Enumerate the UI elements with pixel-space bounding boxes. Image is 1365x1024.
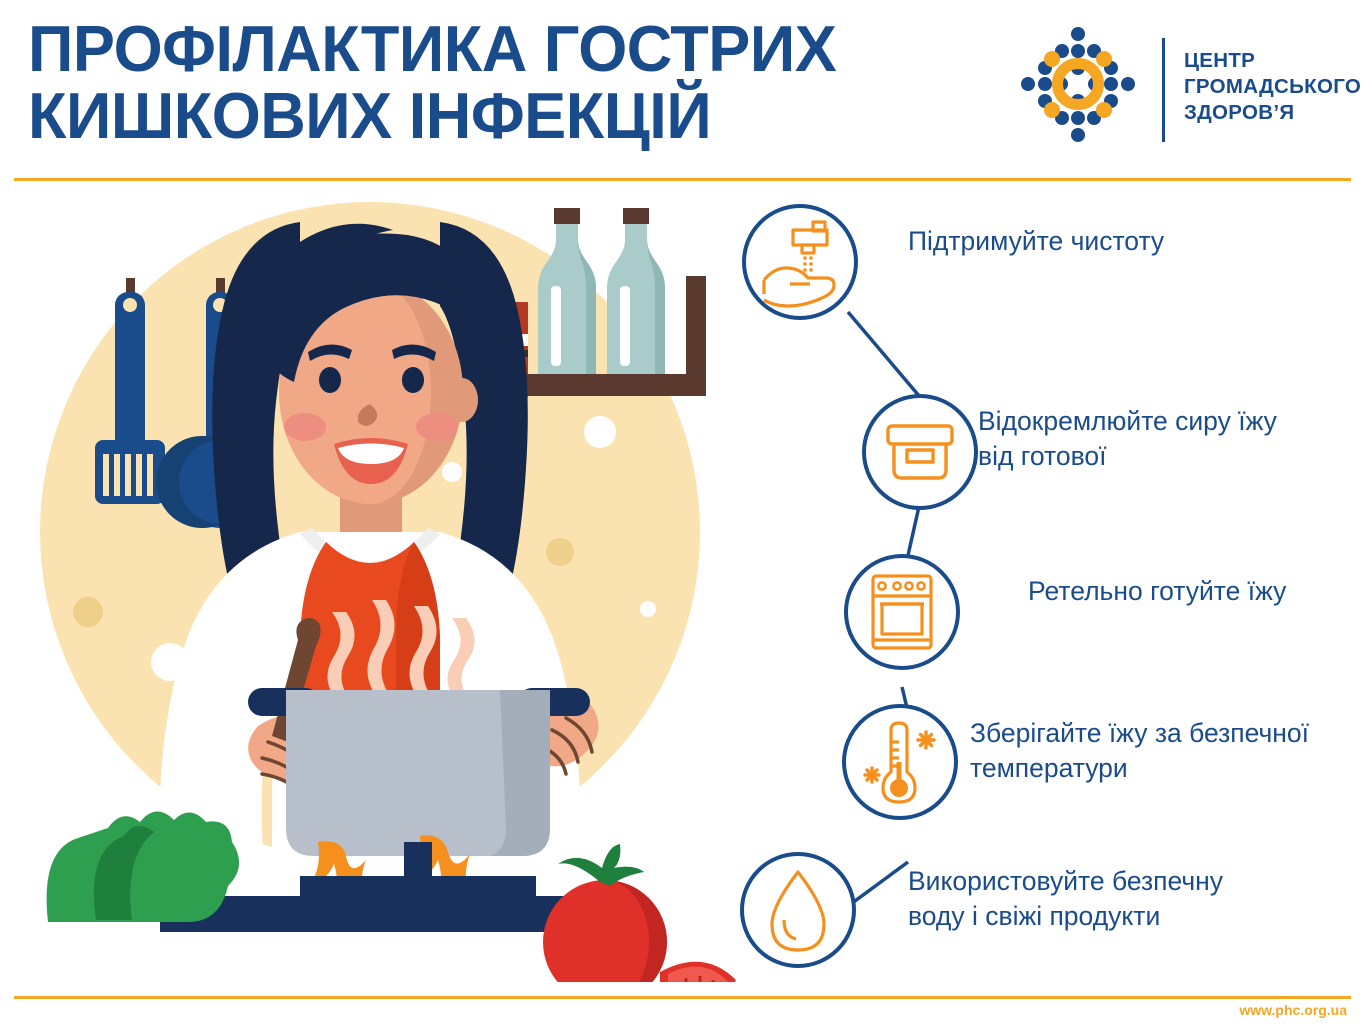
checklist-label-2-line-2: від готової: [978, 439, 1277, 474]
glass-bottle-right: [607, 208, 665, 374]
page-title-line-1: ПРОФІЛАКТИКА ГОСТРИХ: [28, 16, 959, 83]
footer-website-url[interactable]: www.phc.org.ua: [1239, 1002, 1347, 1018]
food-container-icon: [860, 392, 980, 512]
logo-text-line-2: ГРОМАДСЬКОГО: [1184, 74, 1361, 100]
checklist-label-4-line-2: температури: [970, 751, 1309, 786]
checklist-label-5-line-1: Використовуйте безпечну: [908, 864, 1223, 899]
checklist-label-3: Ретельно готуйте їжу: [1028, 574, 1286, 609]
page-title-line-2: КИШКОВИХ ІНФЕКЦІЙ: [28, 83, 959, 150]
checklist-label-1: Підтримуйте чистоту: [908, 224, 1164, 259]
salad-bowl: [36, 811, 239, 982]
tomato-slice: [660, 962, 736, 982]
kitchen-illustration: [0, 182, 740, 982]
prevention-checklist: Підтримуйте чистоту Відокремлюйте сиру ї…: [730, 182, 1365, 992]
glass-bottle-left: [538, 208, 596, 374]
checklist-item-5[interactable]: [738, 850, 858, 975]
checklist-label-5-line-2: воду і свіжі продукти: [908, 899, 1223, 934]
checklist-item-4[interactable]: [840, 702, 960, 827]
organization-logo: ЦЕНТР ГРОМАДСЬКОГО ЗДОРОВ’Я: [1012, 26, 1352, 152]
stove-oven-icon: [842, 552, 962, 672]
checklist-label-1-line-1: Підтримуйте чистоту: [908, 224, 1164, 259]
logo-text-line-3: ЗДОРОВ’Я: [1184, 100, 1361, 126]
page-header: ПРОФІЛАКТИКА ГОСТРИХ КИШКОВИХ ІНФЕКЦІЙ: [0, 0, 1365, 180]
footer-divider-rule: [14, 996, 1351, 999]
checklist-label-4: Зберігайте їжу за безпечної температури: [970, 716, 1309, 786]
diamond-dot-logo-icon: [1012, 26, 1144, 152]
checklist-item-3[interactable]: [842, 552, 962, 677]
checklist-label-3-line-1: Ретельно готуйте їжу: [1028, 574, 1286, 609]
logo-text: ЦЕНТР ГРОМАДСЬКОГО ЗДОРОВ’Я: [1184, 48, 1361, 127]
cooking-pot: [248, 688, 590, 856]
checklist-item-1[interactable]: [740, 202, 860, 327]
faucet-hand-icon: [740, 202, 860, 322]
checklist-label-2-line-1: Відокремлюйте сиру їжу: [978, 404, 1277, 439]
checklist-item-2[interactable]: [860, 392, 980, 517]
checklist-label-2: Відокремлюйте сиру їжу від готової: [978, 404, 1277, 474]
checklist-label-4-line-1: Зберігайте їжу за безпечної: [970, 716, 1309, 751]
tomato: [543, 844, 667, 982]
logo-text-line-1: ЦЕНТР: [1184, 48, 1361, 74]
logo-divider: [1162, 38, 1165, 142]
checklist-label-5: Використовуйте безпечну воду і свіжі про…: [908, 864, 1223, 934]
thermometer-icon: [840, 702, 960, 822]
header-divider-rule: [14, 178, 1351, 181]
water-drop-icon: [738, 850, 858, 970]
page-title: ПРОФІЛАКТИКА ГОСТРИХ КИШКОВИХ ІНФЕКЦІЙ: [28, 16, 988, 150]
